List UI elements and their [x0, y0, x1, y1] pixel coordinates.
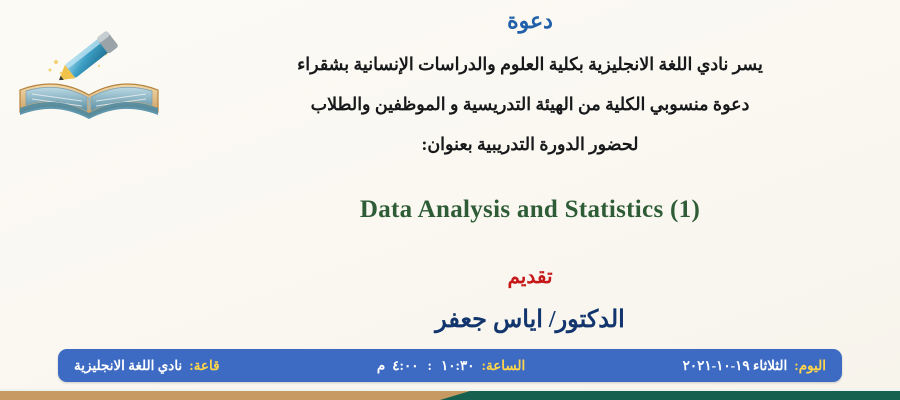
- body-line-1: يسر نادي اللغة الانجليزية بكلية العلوم و…: [160, 44, 900, 84]
- event-time-meridiem: م: [377, 358, 385, 374]
- pencil-icon: [53, 30, 119, 88]
- bottom-decorative-strip: [0, 391, 900, 400]
- presenter-label: تقديم: [160, 264, 900, 289]
- event-venue: قاعة: نادي اللغة الانجليزية: [74, 358, 220, 374]
- strip-green: [440, 391, 900, 400]
- open-book-icon: [20, 84, 158, 119]
- event-time-label: الساعة:: [481, 358, 525, 374]
- poster-content: دعوة يسر نادي اللغة الانجليزية بكلية الع…: [160, 0, 900, 340]
- logo-text: The English Club: [6, 4, 14, 9]
- event-venue-label: قاعة:: [189, 358, 219, 374]
- english-club-logo: The English Club: [6, 4, 176, 134]
- event-day-label: اليوم:: [794, 358, 826, 374]
- event-time-start: ١٠:٣٠: [441, 358, 475, 374]
- event-venue-value: نادي اللغة الانجليزية: [74, 358, 182, 374]
- invitation-poster: The English Club: [0, 0, 900, 400]
- body-line-2: دعوة منسوبي الكلية من الهيئة التدريسية و…: [160, 84, 900, 124]
- event-time-end: ٤:٠٠: [392, 358, 418, 374]
- event-details-bar: اليوم: الثلاثاء ١٩-١٠-٢٠٢١ الساعة: ١٠:٣٠…: [58, 349, 842, 382]
- event-day: اليوم: الثلاثاء ١٩-١٠-٢٠٢١: [683, 358, 826, 374]
- page-title: دعوة: [160, 0, 900, 36]
- body-line-3: لحضور الدورة التدريبية بعنوان:: [160, 124, 900, 164]
- event-day-value: الثلاثاء ١٩-١٠-٢٠٢١: [683, 358, 788, 374]
- event-time: الساعة: ١٠:٣٠ : ٤:٠٠ م: [377, 358, 525, 374]
- course-title: Data Analysis and Statistics (1): [160, 196, 900, 224]
- presenter-name: الدكتور/ اياس جعفر: [160, 305, 900, 334]
- event-time-separator: :: [425, 358, 434, 374]
- strip-tan: [0, 391, 470, 400]
